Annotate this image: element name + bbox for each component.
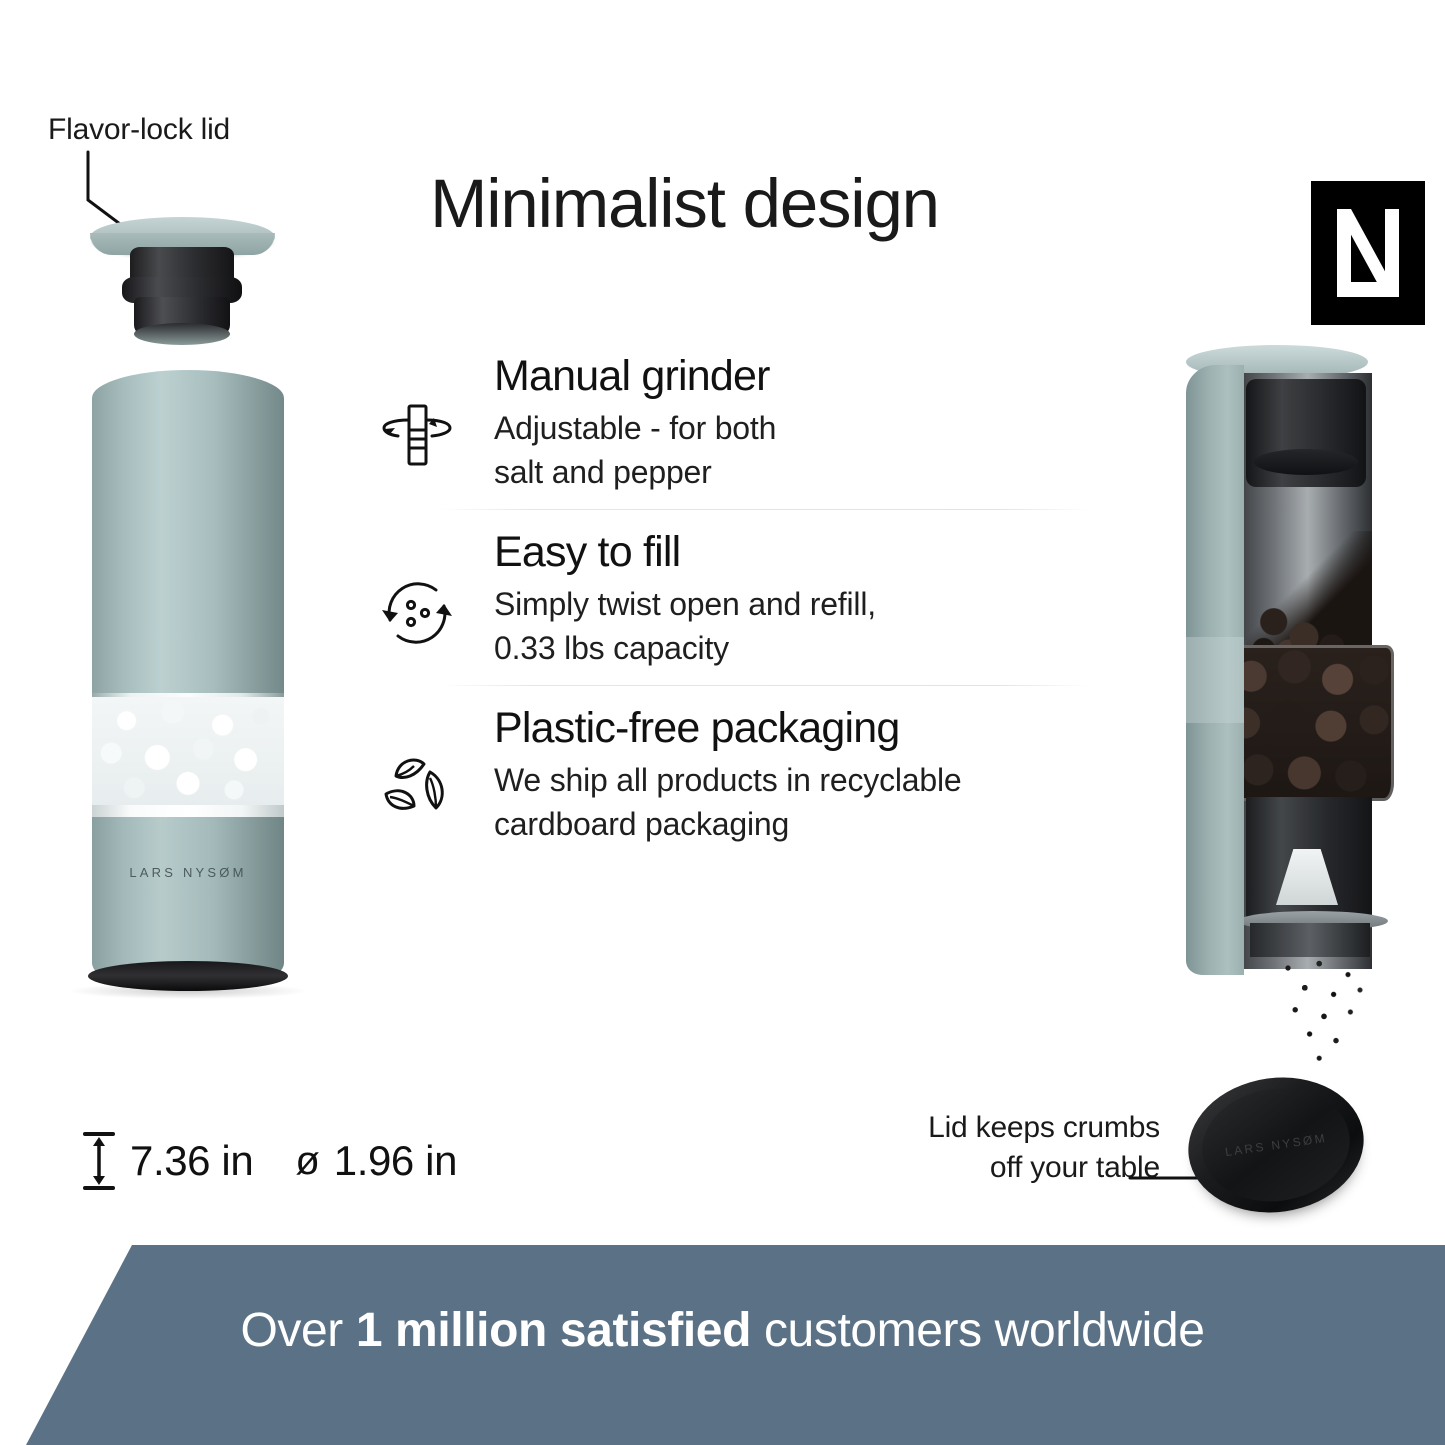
feature-item-plastic-free-packaging: Plastic-free packaging We ship all produ… (370, 704, 1070, 864)
cutaway-shell-window (1186, 637, 1244, 723)
banner-text: Over 1 million satisfied customers world… (0, 1303, 1445, 1358)
feature-divider (440, 509, 1090, 510)
infographic-page: Minimalist design Flavor-lock lid LARS N… (0, 0, 1445, 1445)
pepper-grinder-cutaway-image (1172, 345, 1424, 1045)
lid-cap-brandmark: LARS NYSØM (1202, 1128, 1351, 1162)
grinder-body-lower: LARS NYSØM (92, 817, 284, 977)
dimension-diameter: ø 1.96 in (295, 1137, 457, 1185)
feature-description: We ship all products in recyclable cardb… (494, 758, 1070, 846)
refill-rotation-icon (378, 574, 456, 652)
feature-description: Adjustable - for both salt and pepper (494, 406, 1070, 494)
feature-item-manual-grinder: Manual grinder Adjustable - for both sal… (370, 352, 1070, 512)
feature-description: Simply twist open and refill, 0.33 lbs c… (494, 582, 1070, 670)
page-title: Minimalist design (430, 168, 1130, 240)
feature-divider (440, 685, 1090, 686)
grinder-brandmark: LARS NYSØM (92, 865, 284, 880)
lid-cap-image: LARS NYSØM (1180, 1066, 1373, 1223)
dimension-height-value: 7.36 in (130, 1137, 253, 1185)
feature-title: Manual grinder (494, 352, 1070, 400)
dimension-height: 7.36 in (82, 1130, 253, 1192)
callout-flavor-lock-lid-label: Flavor-lock lid (48, 113, 230, 147)
recycle-leaves-icon (378, 750, 456, 828)
ground-pepper-falling (1264, 957, 1384, 1067)
callout-lid-crumbs-label: Lid keeps crumbs off your table (830, 1108, 1160, 1187)
salt-grinder-exploded-image: LARS NYSØM (78, 205, 298, 995)
cutaway-peppercorns-upper (1246, 531, 1372, 657)
manual-grinder-icon (378, 398, 456, 476)
brand-logo (1311, 181, 1425, 325)
dimension-diameter-value: 1.96 in (334, 1137, 457, 1185)
feature-title: Easy to fill (494, 528, 1070, 576)
cutaway-mechanism-ring (1254, 449, 1358, 475)
grinder-view-window (92, 693, 284, 823)
feature-list: Manual grinder Adjustable - for both sal… (370, 352, 1070, 864)
feature-title: Plastic-free packaging (494, 704, 1070, 752)
grinder-lid-stem-base (134, 323, 230, 345)
grinder-shadow (70, 983, 306, 999)
feature-item-easy-to-fill: Easy to fill Simply twist open and refil… (370, 528, 1070, 688)
bottom-banner: Over 1 million satisfied customers world… (0, 1245, 1445, 1445)
banner-text-before: Over (240, 1304, 355, 1357)
lid-cap-inner: LARS NYSØM (1195, 1079, 1357, 1211)
cutaway-peppercorn-chamber (1228, 645, 1394, 801)
salt-grains (92, 697, 284, 805)
height-arrow-icon (82, 1130, 116, 1192)
banner-text-bold: 1 million satisfied (356, 1304, 751, 1357)
banner-text-after: customers worldwide (751, 1304, 1205, 1357)
grinder-body-upper (92, 370, 284, 700)
diameter-icon: ø (295, 1141, 319, 1181)
dimensions-row: 7.36 in ø 1.96 in (82, 1130, 457, 1192)
ln-monogram-logo (1311, 181, 1425, 325)
cutaway-base-housing (1250, 923, 1370, 957)
